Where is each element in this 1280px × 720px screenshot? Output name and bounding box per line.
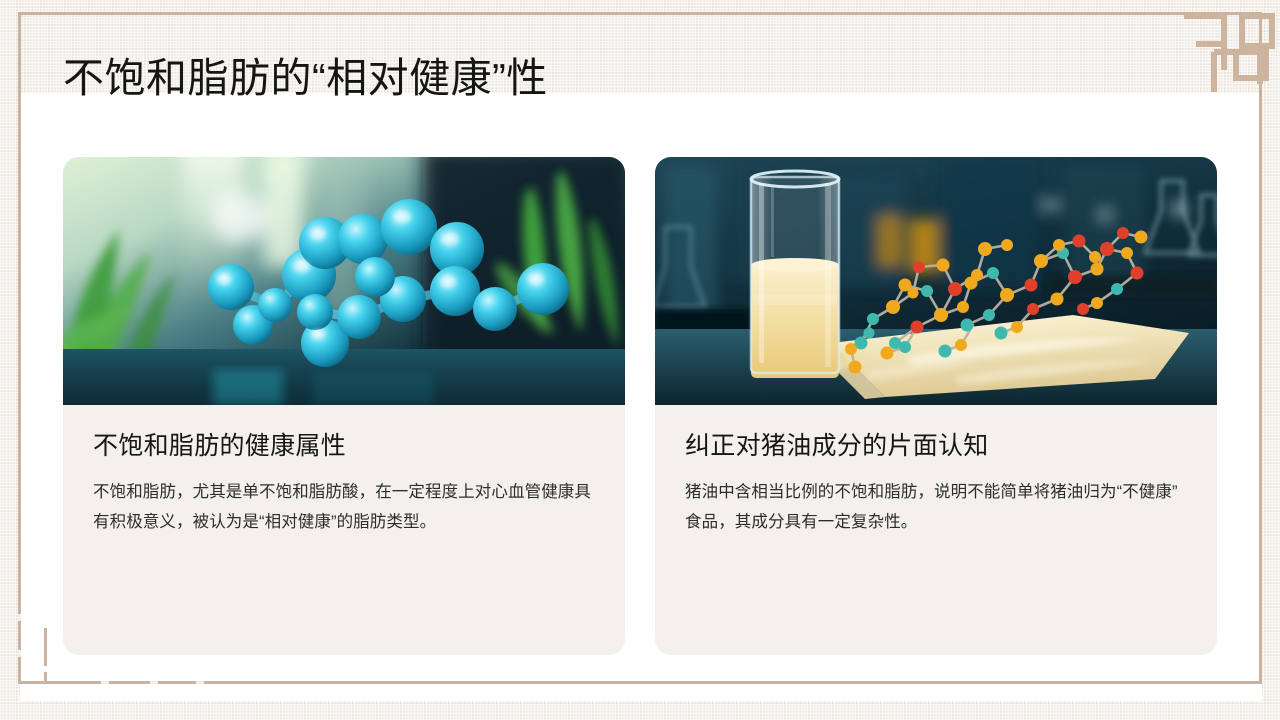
cards-row: 不饱和脂肪的健康属性 不饱和脂肪，尤其是单不饱和脂肪酸，在一定程度上对心血管健康… (63, 157, 1217, 655)
frame-border-bottom (18, 681, 1262, 684)
frame-border-left (18, 12, 21, 684)
teal-molecule-model-photo (63, 157, 625, 405)
frame-notch-left-upper (18, 614, 21, 621)
card-lard-composition-misconception[interactable]: 纠正对猪油成分的片面认知 猪油中含相当比例的不饱和脂肪，说明不能简单将猪油归为“… (655, 157, 1217, 655)
card-body: 不饱和脂肪的健康属性 不饱和脂肪，尤其是单不饱和脂肪酸，在一定程度上对心血管健康… (63, 405, 625, 561)
frame-notch-bottom-two (150, 681, 158, 684)
frame-notch-left-lower (18, 650, 21, 657)
lab-beaker-lard-molecule-photo (655, 157, 1217, 405)
frame-border-right (1259, 12, 1262, 684)
card-image-teal-molecule (63, 157, 625, 405)
page-title: 不饱和脂肪的“相对健康”性 (63, 54, 548, 102)
card-body: 纠正对猪油成分的片面认知 猪油中含相当比例的不饱和脂肪，说明不能简单将猪油归为“… (655, 405, 1217, 561)
frame-notch-bottom-three (196, 681, 204, 684)
frame-notch-bottom-one (101, 681, 109, 684)
slide-root: 不饱和脂肪的“相对健康”性 (0, 0, 1280, 720)
card-heading: 纠正对猪油成分的片面认知 (685, 431, 1187, 462)
frame-border-top (18, 12, 1262, 15)
card-unsaturated-fat-health[interactable]: 不饱和脂肪的健康属性 不饱和脂肪，尤其是单不饱和脂肪酸，在一定程度上对心血管健康… (63, 157, 625, 655)
frame-accent-stub-vertical-upper (44, 628, 47, 666)
frame-accent-stub-vertical-lower (44, 672, 47, 684)
card-description: 不饱和脂肪，尤其是单不饱和脂肪酸，在一定程度上对心血管健康具有积极意义，被认为是… (93, 477, 595, 537)
card-image-lab-beaker-lard (655, 157, 1217, 405)
card-description: 猪油中含相当比例的不饱和脂肪，说明不能简单将猪油归为“不健康”食品，其成分具有一… (685, 477, 1187, 537)
card-heading: 不饱和脂肪的健康属性 (93, 431, 595, 462)
